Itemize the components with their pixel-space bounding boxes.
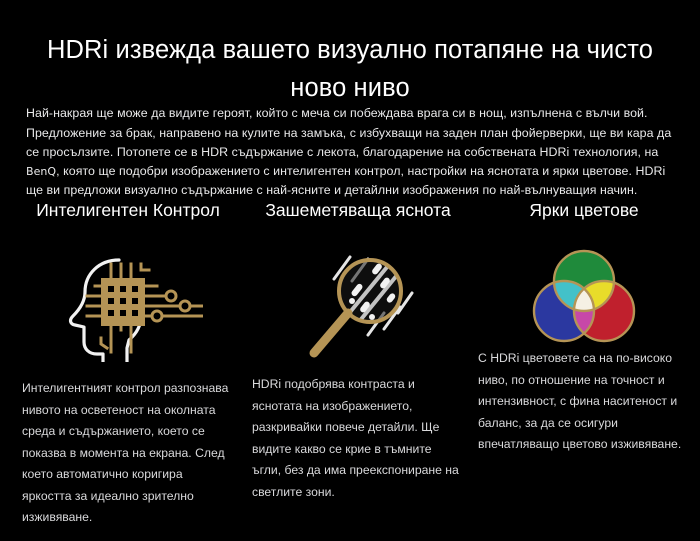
intro-text-part-1: Най-накрая ще може да видите героят, кой… xyxy=(26,106,671,158)
feature-icon-wrap-2 xyxy=(252,238,464,368)
magnifying-glass-icon xyxy=(288,243,428,363)
feature-body-vivid-colors: С HDRi цветовете са на по-високо ниво, п… xyxy=(478,348,690,456)
feature-title-stunning-clarity: Зашеметяваща яснота xyxy=(252,196,464,224)
head-circuit-icon xyxy=(53,252,203,362)
feature-icon-wrap-1 xyxy=(22,242,234,372)
hdri-feature-page: HDRi извежда вашето визуално потапяне на… xyxy=(0,0,700,535)
feature-icon-wrap-3 xyxy=(478,238,690,356)
rgb-venn-icon xyxy=(524,245,644,349)
intro-text-part-2: , която ще подобри изображението с интел… xyxy=(26,164,665,197)
brand-name-benq: BenQ xyxy=(26,165,56,178)
feature-body-intelligent-control: Интелигентният контрол разпознава нивото… xyxy=(22,378,234,529)
feature-column-vivid-colors: Ярки цветове xyxy=(478,196,690,476)
intro-paragraph: Най-накрая ще може да видите героят, кой… xyxy=(26,104,678,200)
page-title: HDRi извежда вашето визуално потапяне на… xyxy=(20,31,680,107)
feature-title-vivid-colors: Ярки цветове xyxy=(478,196,690,224)
feature-columns: Интелигентен Контрол xyxy=(0,196,700,536)
feature-body-stunning-clarity: HDRi подобрява контраста и яснотата на и… xyxy=(252,374,464,503)
feature-column-stunning-clarity: Зашеметяваща яснота xyxy=(252,196,464,515)
feature-title-intelligent-control: Интелигентен Контрол xyxy=(22,196,234,224)
feature-column-intelligent-control: Интелигентен Контрол xyxy=(22,196,234,541)
